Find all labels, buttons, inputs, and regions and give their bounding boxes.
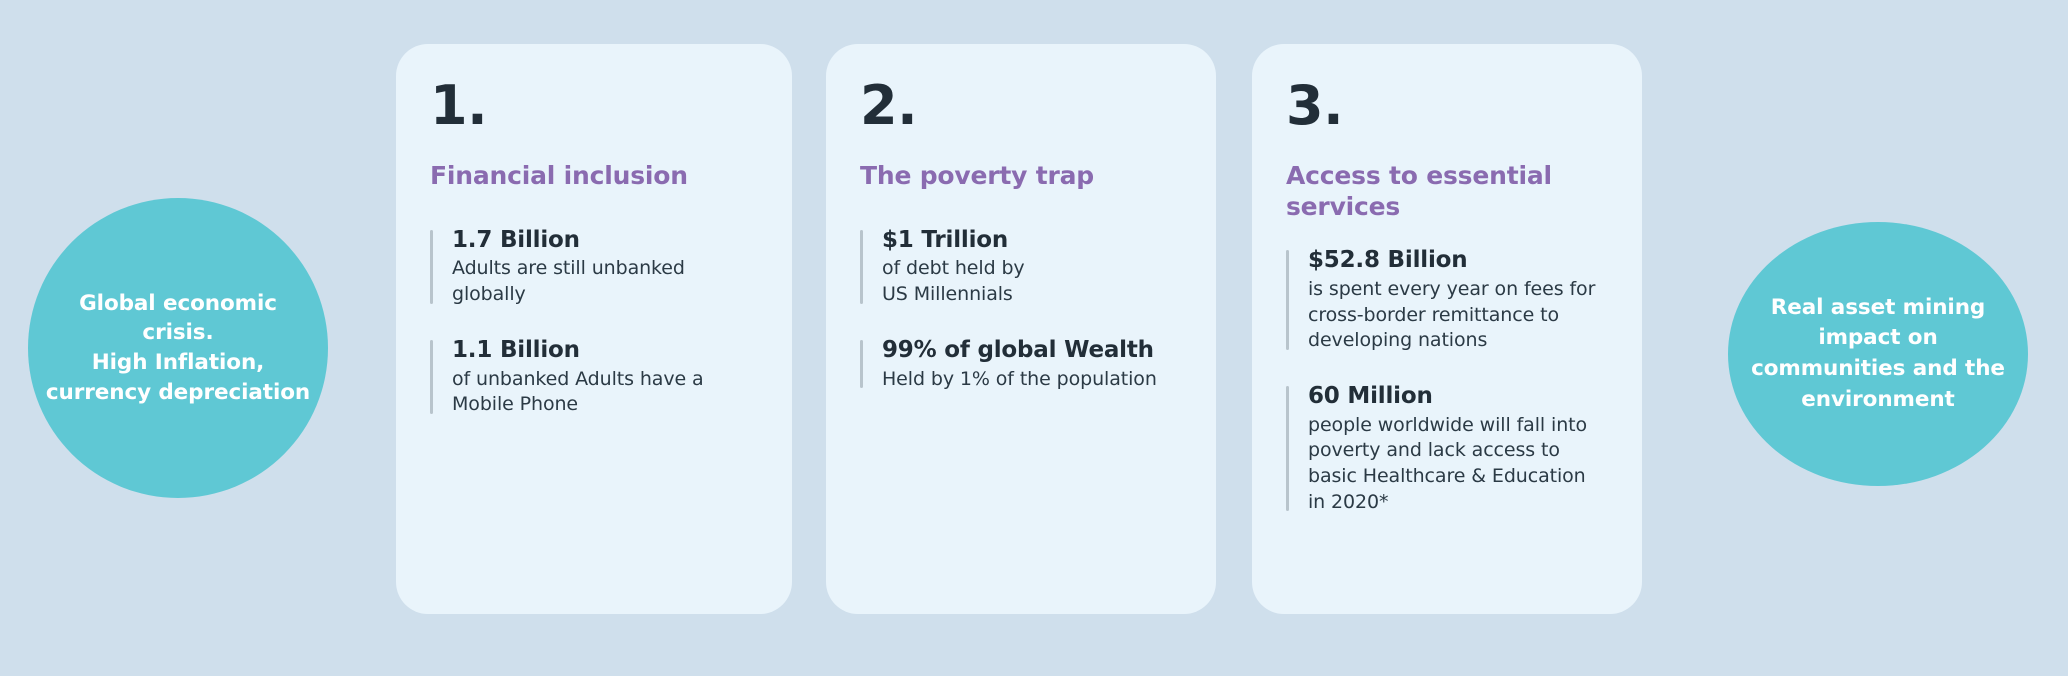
- stat-accent-bar: [860, 230, 863, 304]
- stat-description: of debt held by US Millennials: [882, 256, 1182, 307]
- stat-item: 60 Million people worldwide will fall in…: [1286, 382, 1608, 515]
- card-number: 1.: [430, 79, 758, 133]
- stat-list: 1.7 Billion Adults are still unbanked gl…: [430, 226, 758, 418]
- stat-list: $1 Trillion of debt held by US Millennia…: [860, 226, 1182, 393]
- card-number: 3.: [1286, 79, 1608, 133]
- stat-accent-bar: [860, 340, 863, 389]
- stat-list: $52.8 Billion is spent every year on fee…: [1286, 246, 1608, 515]
- stat-accent-bar: [1286, 386, 1289, 511]
- stat-value: 60 Million: [1308, 382, 1608, 412]
- left-circle-text: Global economic crisis. High Inflation, …: [28, 289, 328, 408]
- stat-item: $1 Trillion of debt held by US Millennia…: [860, 226, 1182, 308]
- stat-value: 1.1 Billion: [452, 336, 758, 366]
- card-title: Access to essential services: [1286, 161, 1608, 222]
- stat-value: 99% of global Wealth: [882, 336, 1182, 366]
- left-context-circle: Global economic crisis. High Inflation, …: [28, 198, 328, 498]
- infographic-canvas: Global economic crisis. High Inflation, …: [0, 0, 2068, 676]
- card-number: 2.: [860, 79, 1182, 133]
- stat-description: is spent every year on fees for cross-bo…: [1308, 277, 1608, 354]
- card-title: Financial inclusion: [430, 161, 758, 192]
- card-financial-inclusion[interactable]: 1. Financial inclusion 1.7 Billion Adult…: [396, 44, 792, 614]
- card-poverty-trap[interactable]: 2. The poverty trap $1 Trillion of debt …: [826, 44, 1216, 614]
- card-title: The poverty trap: [860, 161, 1182, 192]
- stat-item: 1.7 Billion Adults are still unbanked gl…: [430, 226, 758, 308]
- stat-item: 99% of global Wealth Held by 1% of the p…: [860, 336, 1182, 393]
- right-context-circle: Real asset mining impact on communities …: [1728, 222, 2028, 486]
- stat-description: Adults are still unbanked globally: [452, 256, 758, 307]
- stat-accent-bar: [430, 230, 433, 304]
- stat-description: Held by 1% of the population: [882, 367, 1182, 393]
- right-circle-text: Real asset mining impact on communities …: [1728, 293, 2028, 415]
- card-access-essential-services[interactable]: 3. Access to essential services $52.8 Bi…: [1252, 44, 1642, 614]
- stat-value: $1 Trillion: [882, 226, 1182, 256]
- stat-value: 1.7 Billion: [452, 226, 758, 256]
- stat-item: 1.1 Billion of unbanked Adults have a Mo…: [430, 336, 758, 418]
- stat-accent-bar: [1286, 250, 1289, 350]
- stat-item: $52.8 Billion is spent every year on fee…: [1286, 246, 1608, 354]
- stat-accent-bar: [430, 340, 433, 414]
- stat-description: of unbanked Adults have a Mobile Phone: [452, 367, 758, 418]
- stat-description: people worldwide will fall into poverty …: [1308, 413, 1608, 516]
- stat-value: $52.8 Billion: [1308, 246, 1608, 276]
